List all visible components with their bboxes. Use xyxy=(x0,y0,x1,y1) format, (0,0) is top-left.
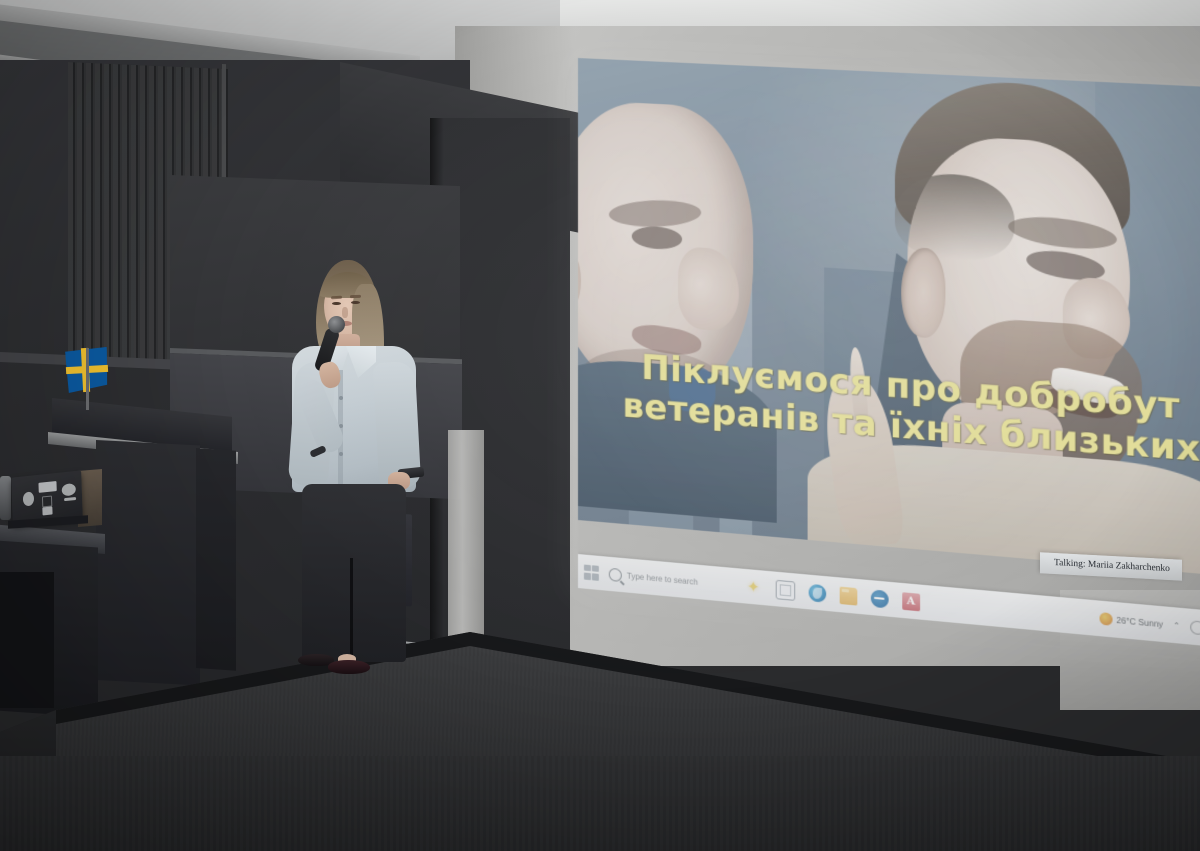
shirt-button xyxy=(339,396,343,400)
taskbar-left-group: Type here to search xyxy=(578,564,698,590)
laptop-sticker xyxy=(42,506,52,515)
laptop-sticker xyxy=(38,481,56,493)
flag-pole xyxy=(86,348,89,410)
sun-icon xyxy=(1099,612,1112,626)
taskbar-search-box[interactable]: Type here to search xyxy=(609,567,698,588)
presenter-leg-gap xyxy=(350,558,353,662)
laptop-sticker xyxy=(64,497,76,501)
chevron-up-icon[interactable]: ⌃ xyxy=(1173,620,1180,630)
water-bottle xyxy=(0,476,11,520)
presenter-shoe xyxy=(328,660,370,674)
window-curtain xyxy=(448,430,484,656)
lectern-body xyxy=(96,440,200,685)
adobe-acrobat-icon[interactable]: A xyxy=(902,592,920,611)
presenter-trousers xyxy=(302,484,406,662)
presentation-photo-scene: Піклуємося про добробут ветеранів та їхн… xyxy=(0,0,1200,851)
lectern-side xyxy=(196,448,236,671)
microsoft-edge-icon[interactable] xyxy=(808,583,826,602)
weather-text: 26°C Sunny xyxy=(1116,615,1163,629)
windows-logo-icon[interactable] xyxy=(584,564,599,580)
presenter-eyebrow xyxy=(350,295,361,298)
floor xyxy=(0,756,1200,851)
slide-photograph: Піклуємося про добробут ветеранів та їхн… xyxy=(578,58,1200,578)
microphone-icon xyxy=(328,316,345,333)
side-table-front xyxy=(0,572,54,708)
app-blue-icon[interactable] xyxy=(871,589,889,608)
shirt-button xyxy=(339,452,343,456)
presenter xyxy=(276,258,426,688)
taskbar-system-tray: 26°C Sunny ⌃ xyxy=(1099,612,1200,639)
laptop-sticker xyxy=(23,491,34,506)
file-explorer-icon[interactable] xyxy=(839,586,857,605)
weather-widget[interactable]: 26°C Sunny xyxy=(1099,612,1163,630)
task-view-icon[interactable] xyxy=(775,579,795,600)
tray-icons xyxy=(1190,620,1200,638)
network-icon[interactable] xyxy=(1190,620,1200,635)
laptop-sticker xyxy=(62,483,76,496)
search-icon xyxy=(609,567,622,581)
copilot-icon[interactable]: ✦ xyxy=(745,578,762,597)
presenter-nose xyxy=(342,307,348,318)
person-ear xyxy=(901,247,945,339)
search-input-placeholder: Type here to search xyxy=(627,571,698,587)
slide-person-right xyxy=(878,76,1180,571)
